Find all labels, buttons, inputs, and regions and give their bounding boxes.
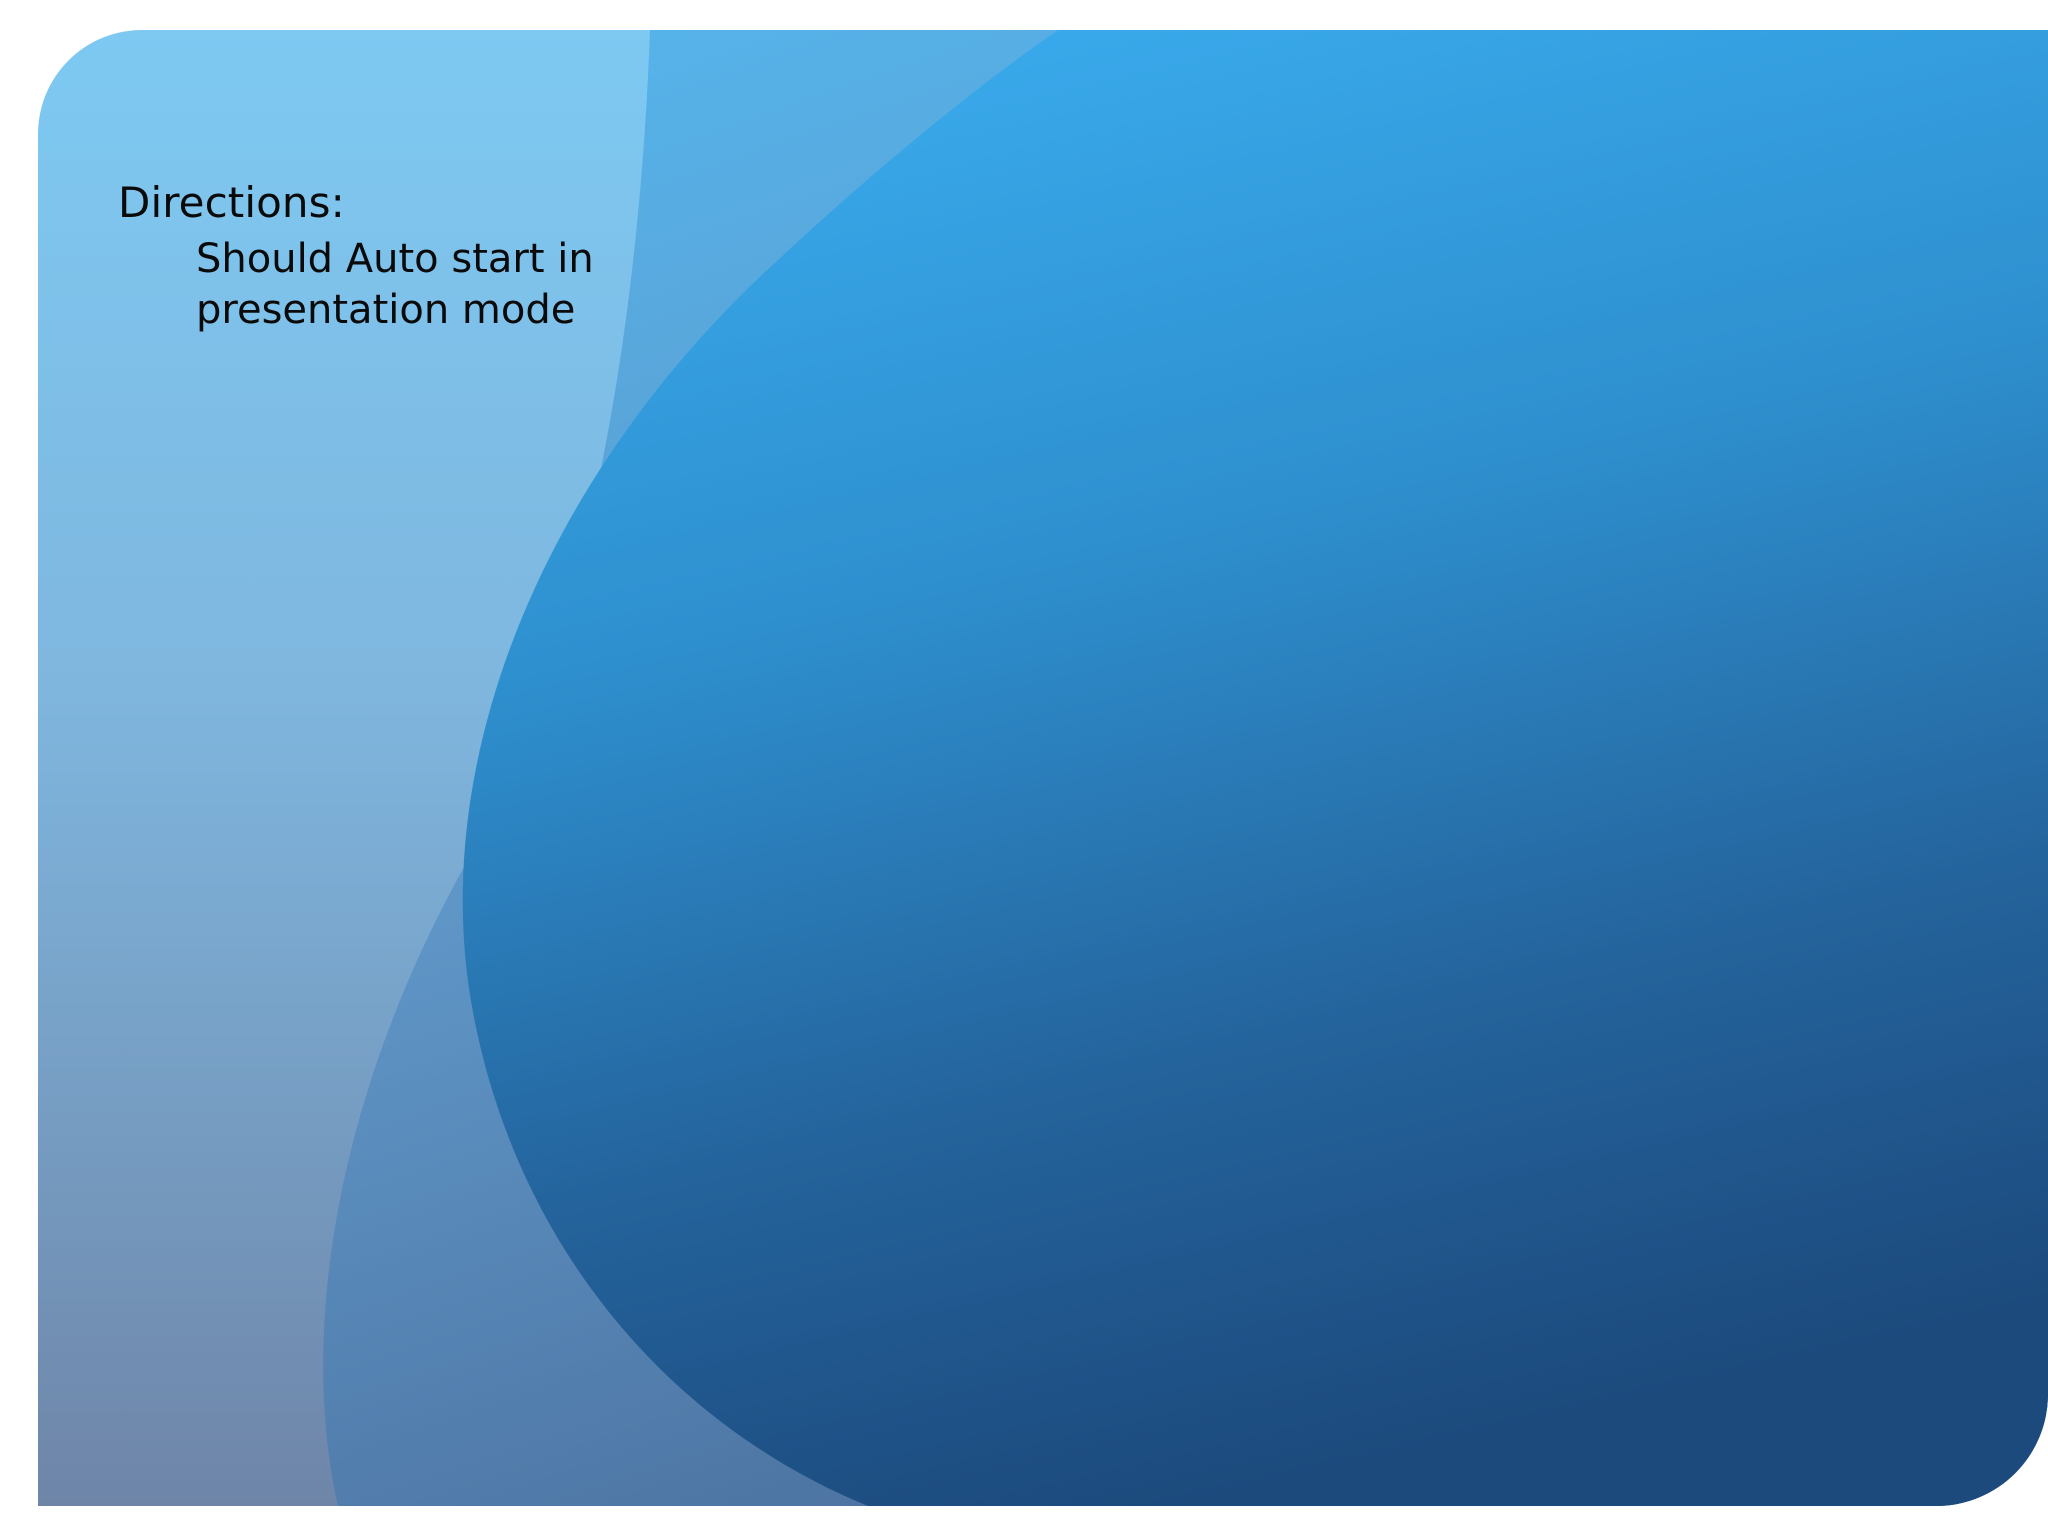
slide-text-block: Directions: Should Auto start in present… <box>118 178 898 336</box>
slide-body-list: Should Auto start in presentation mode <box>118 234 898 336</box>
presentation-slide: Directions: Should Auto start in present… <box>0 0 2048 1536</box>
slide-title: Directions: <box>118 178 898 228</box>
slide-body-line: Should Auto start in presentation mode <box>196 234 616 336</box>
